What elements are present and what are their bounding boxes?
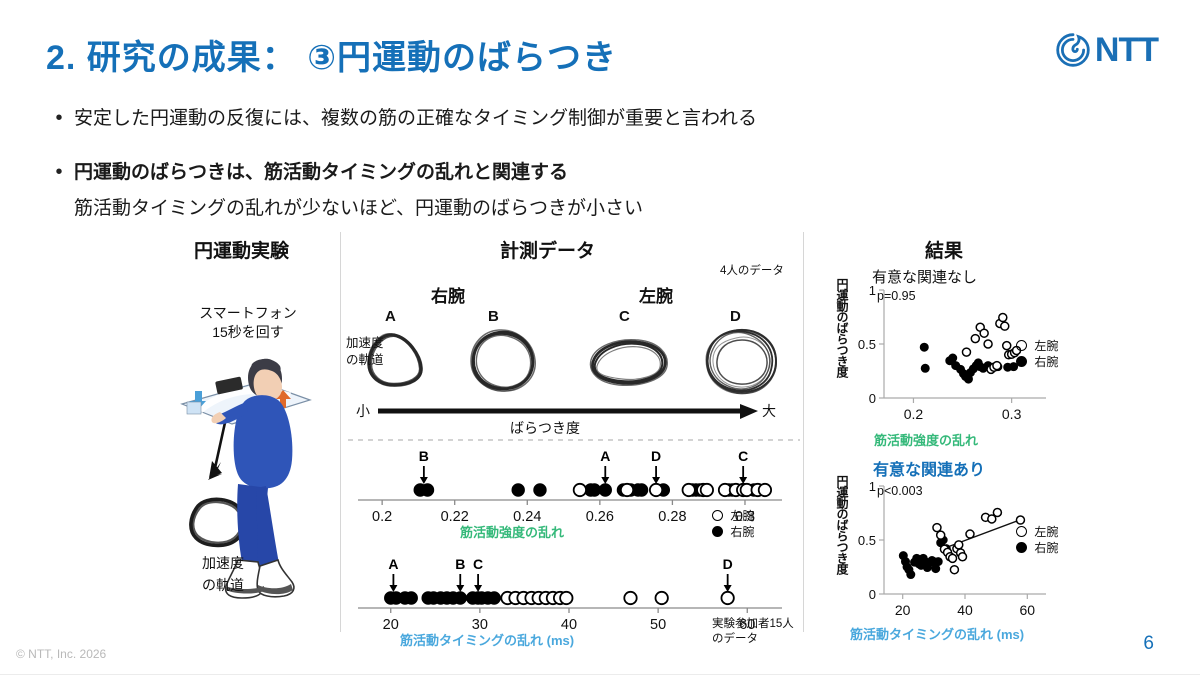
svg-text:A: A bbox=[388, 556, 398, 572]
arrow-label-large: 大 bbox=[762, 401, 776, 421]
bullet-item-2: • 円運動のばらつきは、筋活動タイミングの乱れと関連する bbox=[44, 158, 1044, 188]
scatter1-legend: 左腕 右腕 bbox=[1016, 338, 1058, 370]
left-caption-bottom2: の軌道 bbox=[168, 576, 278, 595]
arrow-label-small: 小 bbox=[356, 401, 370, 421]
figure-area: 円運動実験 スマートフォン 15秒を回す bbox=[150, 232, 1160, 652]
bullet-subtext-2: 筋活動タイミングの乱れが少ないほど、円運動のばらつきが小さい bbox=[74, 194, 1044, 224]
divider-right bbox=[803, 232, 804, 632]
filled-circle-icon bbox=[1016, 542, 1027, 553]
left-caption-bottom: 加速度 bbox=[168, 554, 278, 573]
svg-text:0: 0 bbox=[869, 587, 876, 602]
bullet-marker: • bbox=[44, 158, 74, 186]
legend-entry-right-arm: 右腕 bbox=[1016, 354, 1058, 370]
legend-entry-left-arm: 左腕 bbox=[1016, 338, 1058, 354]
left-caption-top: スマートフォン bbox=[178, 304, 318, 323]
arrow-caption: ばらつき度 bbox=[510, 418, 580, 438]
ntt-swirl-icon bbox=[1055, 32, 1091, 68]
bullet-text-2: 円運動のばらつきは、筋活動タイミングの乱れと関連する bbox=[74, 158, 568, 188]
svg-text:1: 1 bbox=[869, 479, 876, 494]
svg-text:A: A bbox=[600, 448, 610, 464]
bullet-marker: • bbox=[44, 104, 74, 132]
legend-label-left: 左腕 bbox=[1034, 525, 1058, 539]
svg-text:D: D bbox=[651, 448, 661, 464]
participants-note-2: のデータ bbox=[712, 632, 758, 647]
legend-label-right: 右腕 bbox=[730, 525, 754, 539]
svg-text:0.5: 0.5 bbox=[858, 533, 876, 548]
divider-left bbox=[340, 232, 341, 632]
strip1-xlabel: 筋活動強度の乱れ bbox=[460, 522, 564, 541]
svg-text:60: 60 bbox=[1020, 602, 1036, 618]
svg-text:50: 50 bbox=[650, 617, 666, 633]
left-panel-title: 円運動実験 bbox=[194, 236, 289, 263]
svg-text:0.2: 0.2 bbox=[372, 509, 392, 525]
svg-text:20: 20 bbox=[895, 602, 911, 618]
svg-text:0.2: 0.2 bbox=[904, 406, 924, 422]
svg-text:1: 1 bbox=[869, 283, 876, 298]
bullet-item-1: • 安定した円運動の反復には、複数の筋の正確なタイミング制御が重要と言われる bbox=[44, 104, 1044, 134]
strip2-xlabel: 筋活動タイミングの乱れ (ms) bbox=[400, 630, 574, 649]
svg-text:0.5: 0.5 bbox=[858, 337, 876, 352]
legend-entry-right-arm: 右腕 bbox=[712, 524, 754, 540]
legend-entry-left-arm: 左腕 bbox=[1016, 524, 1058, 540]
dashed-separator bbox=[348, 439, 800, 441]
scatter2-legend: 左腕 右腕 bbox=[1016, 524, 1058, 556]
participants-note: 実験参加者15人 bbox=[712, 617, 794, 632]
bullet-list: • 安定した円運動の反復には、複数の筋の正確なタイミング制御が重要と言われる •… bbox=[44, 104, 1044, 224]
legend-label-right: 右腕 bbox=[1034, 541, 1058, 555]
scatter2-xlabel: 筋活動タイミングの乱れ (ms) bbox=[850, 624, 1024, 643]
svg-text:B: B bbox=[419, 448, 429, 464]
scatter1-xlabel: 筋活動強度の乱れ bbox=[874, 430, 978, 449]
svg-text:0: 0 bbox=[869, 391, 876, 406]
result-bottom-note: 有意な関連あり bbox=[873, 456, 985, 480]
legend-label-right: 右腕 bbox=[1034, 355, 1058, 369]
svg-text:0.3: 0.3 bbox=[1002, 406, 1022, 422]
scatter1-ylabel: 円運動のばらつき度 bbox=[834, 278, 851, 418]
svg-text:20: 20 bbox=[383, 617, 399, 633]
right-panel-title: 結果 bbox=[925, 236, 963, 263]
ntt-logo: NTT bbox=[1055, 32, 1158, 68]
center-panel-title: 計測データ bbox=[500, 236, 595, 263]
slide: 2. 研究の成果： ③円運動のばらつき NTT • 安定した円運動の反復には、複… bbox=[0, 0, 1200, 675]
copyright: © NTT, Inc. 2026 bbox=[16, 647, 106, 661]
legend-label-left: 左腕 bbox=[1034, 339, 1058, 353]
arm-label-left: 左腕 bbox=[639, 282, 673, 307]
svg-text:0.28: 0.28 bbox=[658, 509, 686, 525]
arm-label-right: 右腕 bbox=[431, 282, 465, 307]
page-number: 6 bbox=[1143, 633, 1154, 655]
page-title: 2. 研究の成果： ③円運動のばらつき bbox=[46, 30, 617, 79]
center-data-note: 4人のデータ bbox=[720, 264, 784, 279]
svg-text:D: D bbox=[723, 556, 733, 572]
trajectory-plots bbox=[350, 320, 800, 400]
legend-entry-right-arm: 右腕 bbox=[1016, 540, 1058, 556]
svg-text:B: B bbox=[455, 556, 465, 572]
open-circle-icon bbox=[1016, 526, 1027, 537]
left-caption-top2: 15秒を回す bbox=[178, 323, 318, 342]
svg-text:0.26: 0.26 bbox=[586, 509, 614, 525]
person-illustration bbox=[160, 344, 340, 614]
bullet-text-1: 安定した円運動の反復には、複数の筋の正確なタイミング制御が重要と言われる bbox=[74, 104, 757, 134]
scatter2-ylabel: 円運動のばらつき度 bbox=[834, 475, 851, 615]
open-circle-icon bbox=[712, 510, 723, 521]
open-circle-icon bbox=[1016, 340, 1027, 351]
filled-circle-icon bbox=[712, 526, 723, 537]
svg-text:40: 40 bbox=[957, 602, 973, 618]
svg-text:C: C bbox=[473, 556, 483, 572]
filled-circle-icon bbox=[1016, 356, 1027, 367]
ntt-wordmark: NTT bbox=[1095, 33, 1158, 67]
svg-text:C: C bbox=[738, 448, 748, 464]
legend-label-left: 左腕 bbox=[730, 509, 754, 523]
strip1-legend: 左腕 右腕 bbox=[712, 508, 754, 540]
legend-entry-left-arm: 左腕 bbox=[712, 508, 754, 524]
